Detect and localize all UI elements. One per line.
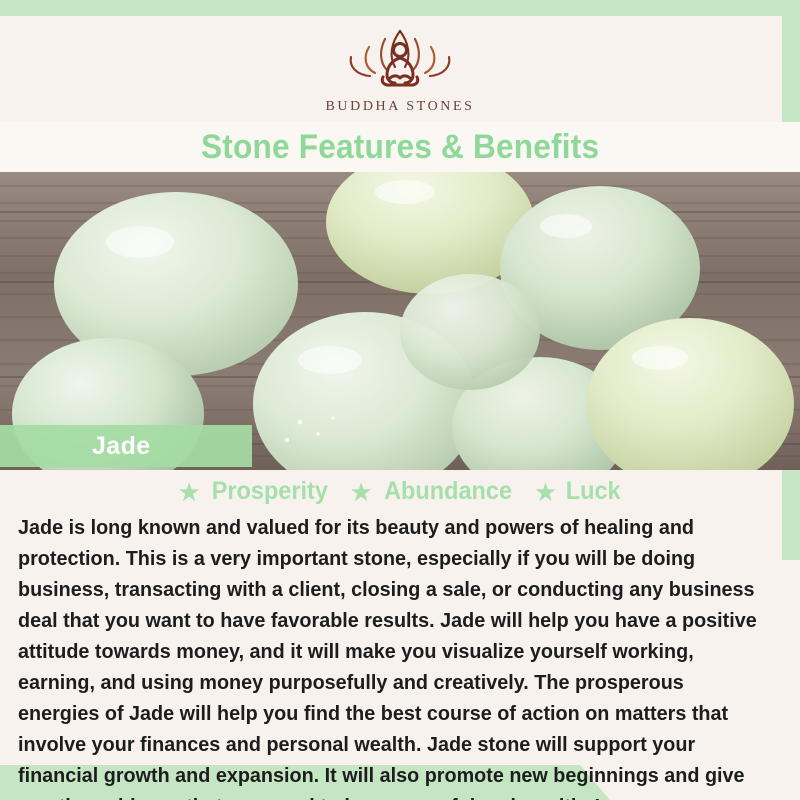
brand-name: BUDDHA STONES: [325, 99, 474, 115]
stone-name-banner: Jade: [0, 425, 252, 467]
benefit-label: Luck: [566, 477, 621, 506]
stone-name-label: Jade: [92, 432, 151, 461]
top-accent-band: [0, 0, 800, 16]
benefit-label: Prosperity: [211, 477, 327, 506]
infographic-page: BUDDHA STONES Stone Features & Benefits: [0, 0, 800, 800]
benefit-luck: ★ Luck: [534, 477, 623, 506]
stone-description: Jade is long known and valued for its be…: [18, 512, 759, 800]
benefits-row: ★ Prosperity ★ Abundance ★ Luck: [0, 475, 800, 508]
star-icon: ★: [177, 479, 200, 505]
benefit-abundance: ★ Abundance: [349, 477, 515, 506]
title-bar: Stone Features & Benefits: [0, 122, 800, 172]
benefit-prosperity: ★ Prosperity: [177, 477, 331, 506]
page-title: Stone Features & Benefits: [201, 128, 599, 167]
lotus-meditation-icon: [325, 23, 475, 95]
star-icon: ★: [349, 479, 372, 505]
star-icon: ★: [534, 479, 557, 505]
benefit-label: Abundance: [384, 477, 512, 506]
brand-header: BUDDHA STONES: [0, 16, 800, 122]
